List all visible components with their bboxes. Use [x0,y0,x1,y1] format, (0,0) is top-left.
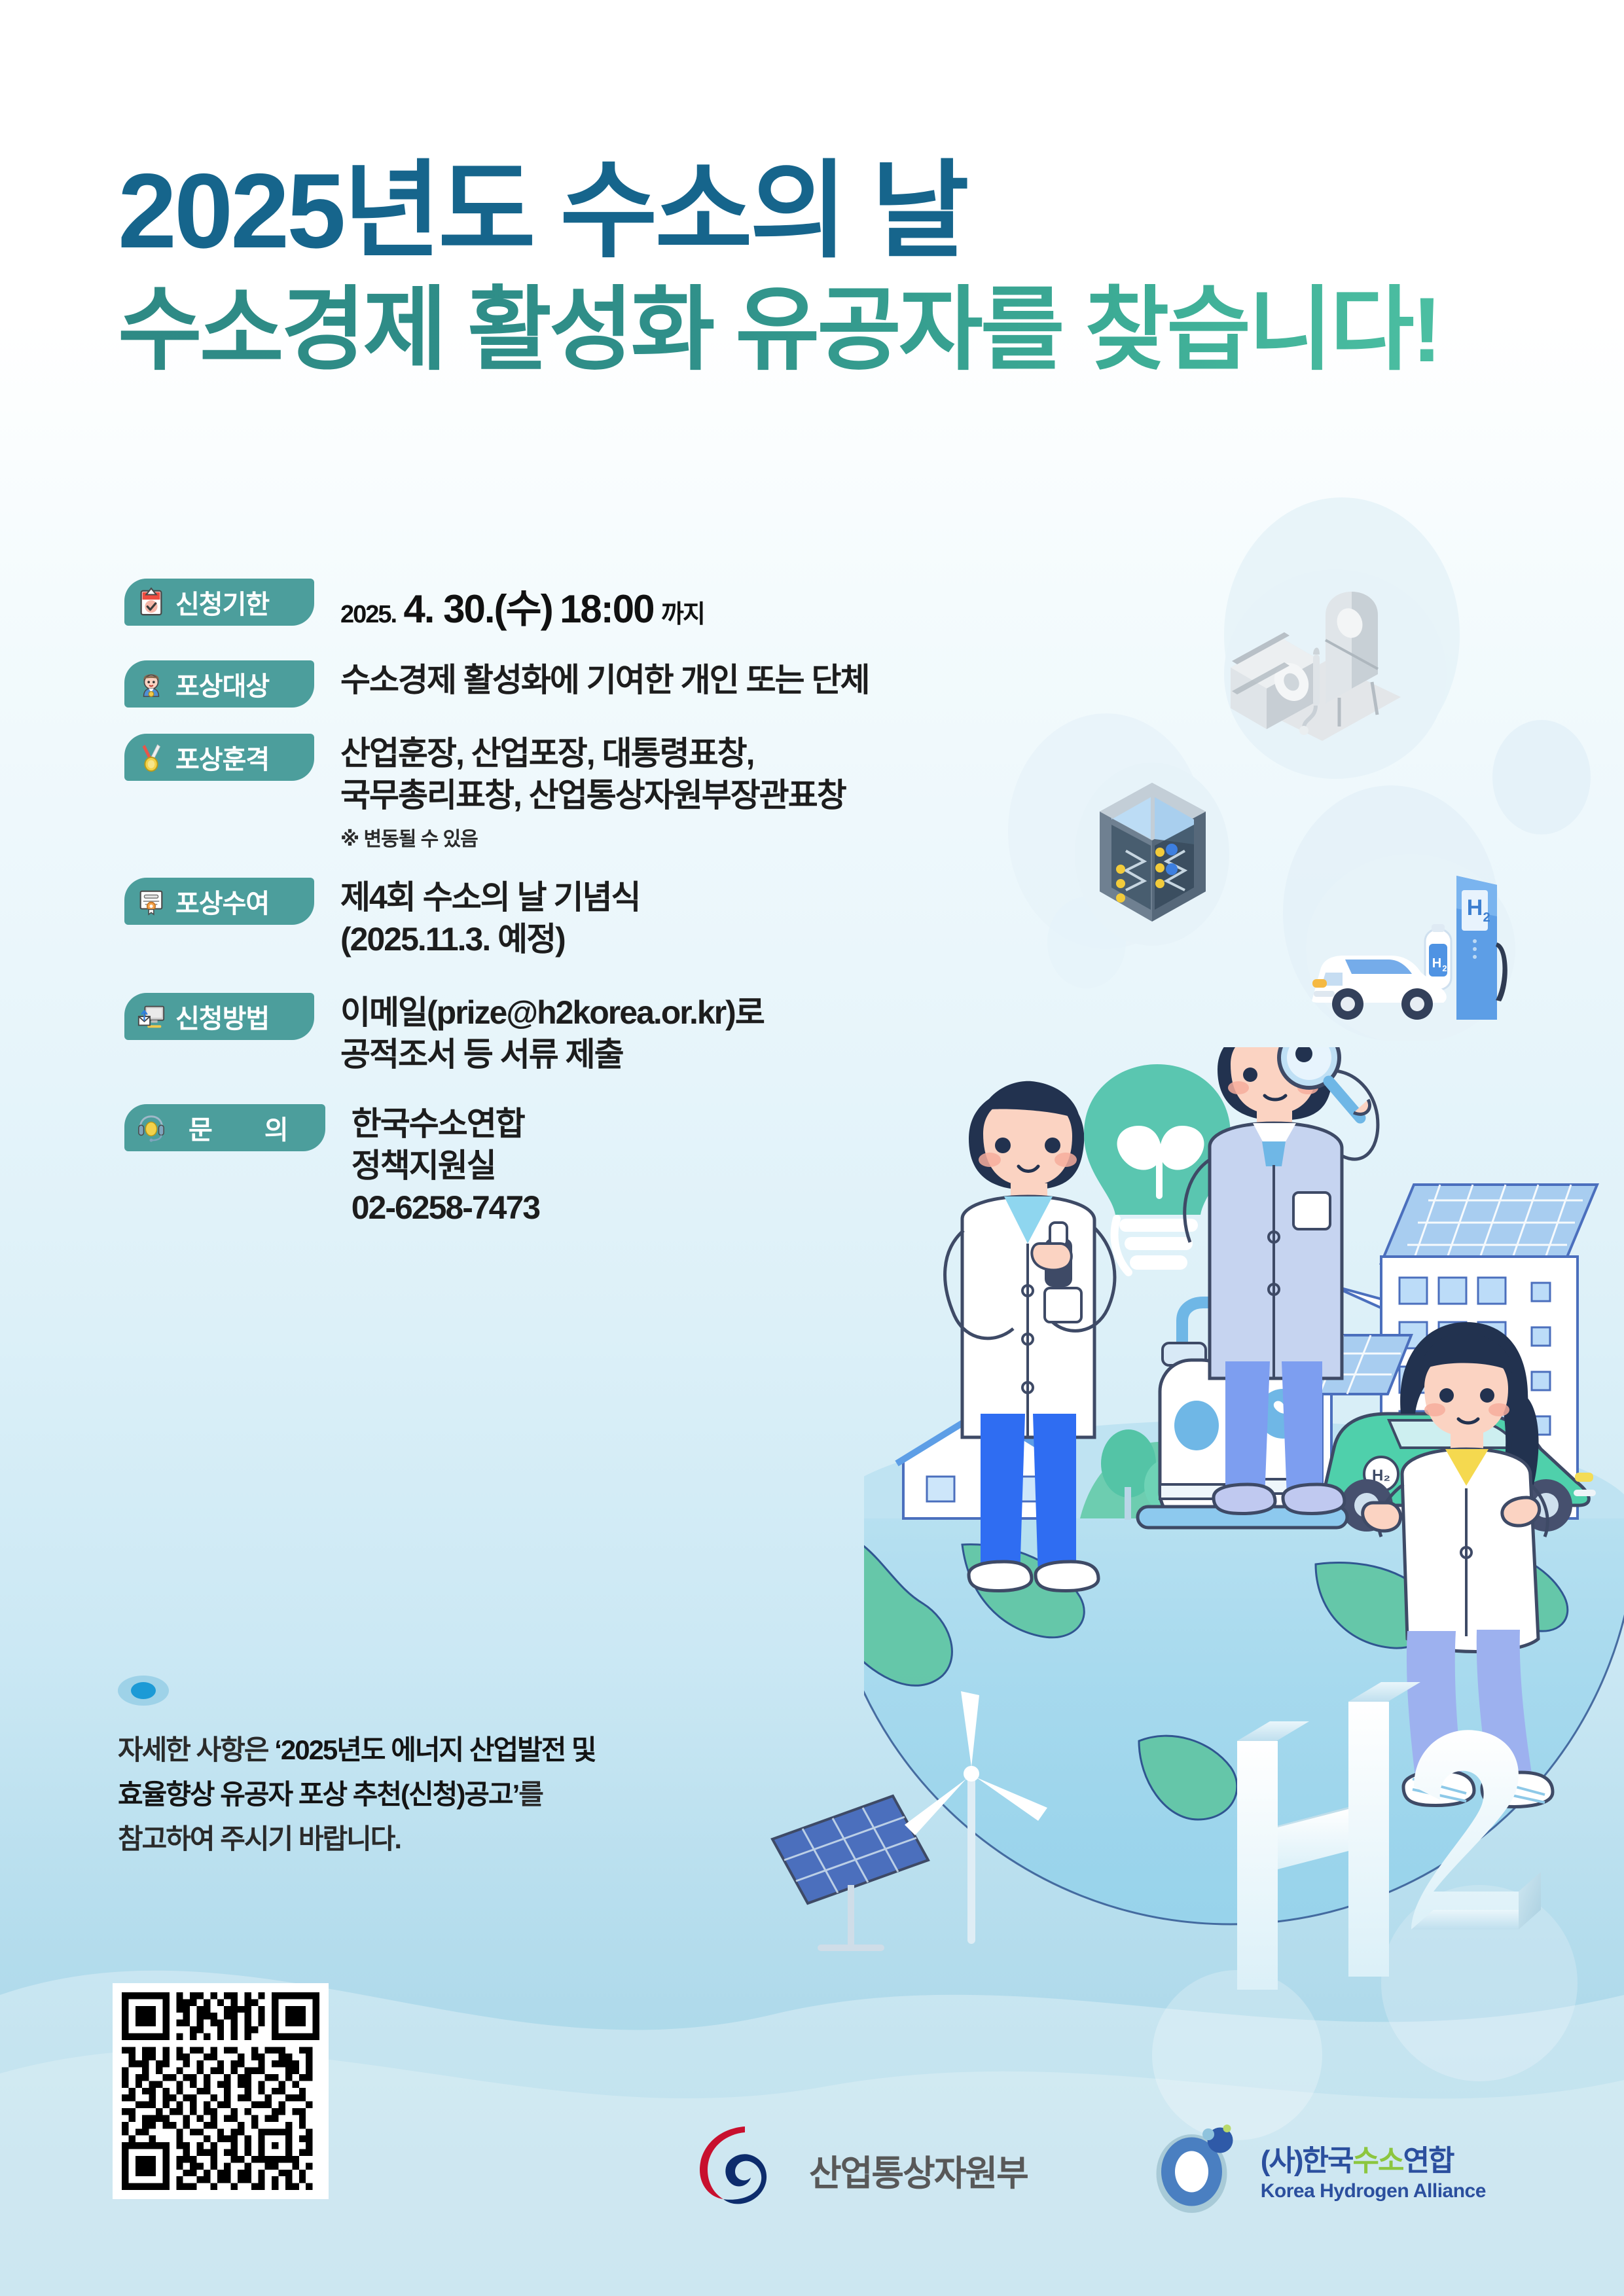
title-line-2: 수소경제 활성화 유공자를 찾습니다! [118,283,1492,377]
h2-3d-sign [1198,1676,1564,2042]
contact-value: 한국수소연합 정책지원실 02-6258-7473 [352,1102,539,1229]
decorative-blob [1041,1499,1172,1656]
badge-label: 포상수여 [175,882,269,920]
kha-name-kr-part1: (사)한국 [1261,2145,1353,2177]
contact-phone: 02-6258-7473 [352,1187,539,1229]
deadline-day: 4. 30.(수) [403,587,552,631]
badge-contact: 문 의 [124,1104,325,1151]
fuel-cell-stack-icon [1060,753,1244,949]
person-award-icon [136,669,166,699]
application-method-line-1: 이메일(prize@h2korea.or.kr)로 [340,992,764,1033]
note-line-2: 효율향상 유공자 포상 추천(신청)공고’를 [118,1772,871,1817]
bullet-dot-icon [118,1676,169,1706]
badge-label: 신청방법 [175,997,269,1035]
kha-name-kr-part2: 연합 [1403,2145,1453,2177]
info-row-contact: 문 의 한국수소연합 정책지원실 02-6258-7473 [124,1102,1041,1229]
decorative-blob [1283,785,1499,1041]
svg-text:2: 2 [1442,963,1447,973]
info-row-award-grades: 포상훈격 산업훈장, 산업포장, 대통령표창, 국무총리표창, 산업통상자원부장… [124,731,1041,852]
eligibility-line: 수소경제 활성화에 기여한 개인 또는 단체 [340,659,869,701]
title-line-1: 2025년도 수소의 날 [118,157,1492,265]
motie-logo: 산업통상자원부 [694,2121,1028,2219]
note-line-1: 자세한 사항은 ‘2025년도 에너지 산업발전 및 [118,1728,871,1772]
ceremony-line-2: (2025.11.3. 예정) [340,918,640,960]
kha-name-kr: (사)한국수소연합 [1261,2137,1486,2179]
badge-label: 문 의 [175,1109,311,1147]
motie-name: 산업통상자원부 [809,2144,1028,2196]
decorative-blob [1224,497,1460,772]
note-line-2-bold: 효율향상 유공자 포상 추천(신청)공고’ [118,1779,518,1810]
info-row-ceremony: 포상수여 제4회 수소의 날 기념식 (2025.11.3. 예정) [124,875,1041,960]
badge-label: 포상대상 [175,665,269,703]
korea-government-taegeuk-icon [694,2121,792,2219]
reference-note: 자세한 사항은 ‘2025년도 에너지 산업발전 및 효율향상 유공자 포상 추… [118,1676,871,1861]
decorative-blob [1381,1885,1578,2081]
svg-text:H: H [1467,895,1483,920]
certificate-icon [136,886,166,916]
application-method-value: 이메일(prize@h2korea.or.kr)로 공적조서 등 서류 제출 [340,990,764,1075]
deadline-time: 18:00 [560,587,653,631]
ceremony-line-1: 제4회 수소의 날 기념식 [340,876,640,918]
badge-award-grades: 포상훈격 [124,734,314,781]
kha-name-kr-green: 수소 [1353,2145,1403,2177]
info-row-deadline: 신청기한 2025. 4. 30.(수) 18:00 까지 [124,576,1041,634]
clipboard-check-icon [136,587,166,617]
svg-text:H: H [1432,956,1441,971]
note-line-2-post: 를 [518,1779,543,1810]
award-grade-line-2: 국무총리표창, 산업통상자원부장관표창 [340,774,846,816]
hydrogen-storage-tank-icon [1185,563,1460,779]
info-rows: 신청기한 2025. 4. 30.(수) 18:00 까지 [124,576,1041,1252]
badge-label: 신청기한 [175,583,269,621]
contact-dept: 정책지원실 [352,1145,539,1187]
note-line-3: 참고하여 주시기 바랍니다. [118,1817,871,1861]
deadline-value: 2025. 4. 30.(수) 18:00 까지 [340,576,704,634]
qr-code-matrix [122,1992,319,2190]
deadline-year: 2025. [340,601,396,628]
kha-logo: (사)한국수소연합 Korea Hydrogen Alliance [1146,2121,1486,2219]
award-grade-line-1: 산업훈장, 산업포장, 대통령표창, [340,732,846,774]
svg-text:2: 2 [1483,910,1490,925]
kha-name-en: Korea Hydrogen Alliance [1261,2180,1486,2202]
badge-label: 포상훈격 [175,738,269,776]
badge-deadline: 신청기한 [124,579,314,626]
info-row-eligibility: 포상대상 수소경제 활성화에 기여한 개인 또는 단체 [124,658,1041,708]
poster-root: 2025년도 수소의 날 수소경제 활성화 유공자를 찾습니다! [0,0,1624,2296]
decorative-blob [1152,1970,1322,2140]
hydrogen-refueling-station-icon: H 2 H 2 [1280,844,1528,1041]
email-monitor-icon [136,1001,166,1031]
qr-code-icon[interactable] [113,1983,329,2199]
deadline-suffix: 까지 [661,601,704,628]
decorative-blob [1492,720,1591,834]
note-line-1-pre: 자세한 사항은 [118,1734,274,1765]
badge-eligibility: 포상대상 [124,660,314,708]
medal-icon [136,742,166,772]
award-grades-value: 산업훈장, 산업포장, 대통령표창, 국무총리표창, 산업통상자원부장관표창 ※… [340,731,846,852]
note-line-1-bold: ‘2025년도 에너지 산업발전 및 [274,1734,596,1765]
ceremony-value: 제4회 수소의 날 기념식 (2025.11.3. 예정) [340,875,640,960]
svg-text:H₂: H₂ [1372,1467,1390,1484]
award-grade-note: ※ 변동될 수 있음 [340,823,846,852]
footer-logos: 산업통상자원부 (사)한국수소연합 Korea Hydrogen Allianc… [694,2121,1486,2219]
eligibility-value: 수소경제 활성화에 기여한 개인 또는 단체 [340,658,869,701]
headset-icon [136,1113,166,1143]
info-row-application-method: 신청방법 이메일(prize@h2korea.or.kr)로 공적조서 등 서류… [124,990,1041,1075]
decorative-blob [1047,897,1126,988]
contact-org: 한국수소연합 [352,1103,539,1145]
application-method-line-2: 공적조서 등 서류 제출 [340,1033,764,1075]
badge-application-method: 신청방법 [124,993,314,1040]
poster-title: 2025년도 수소의 날 수소경제 활성화 유공자를 찾습니다! [118,157,1492,377]
korea-hydrogen-alliance-icon [1146,2121,1244,2219]
badge-ceremony: 포상수여 [124,878,314,925]
